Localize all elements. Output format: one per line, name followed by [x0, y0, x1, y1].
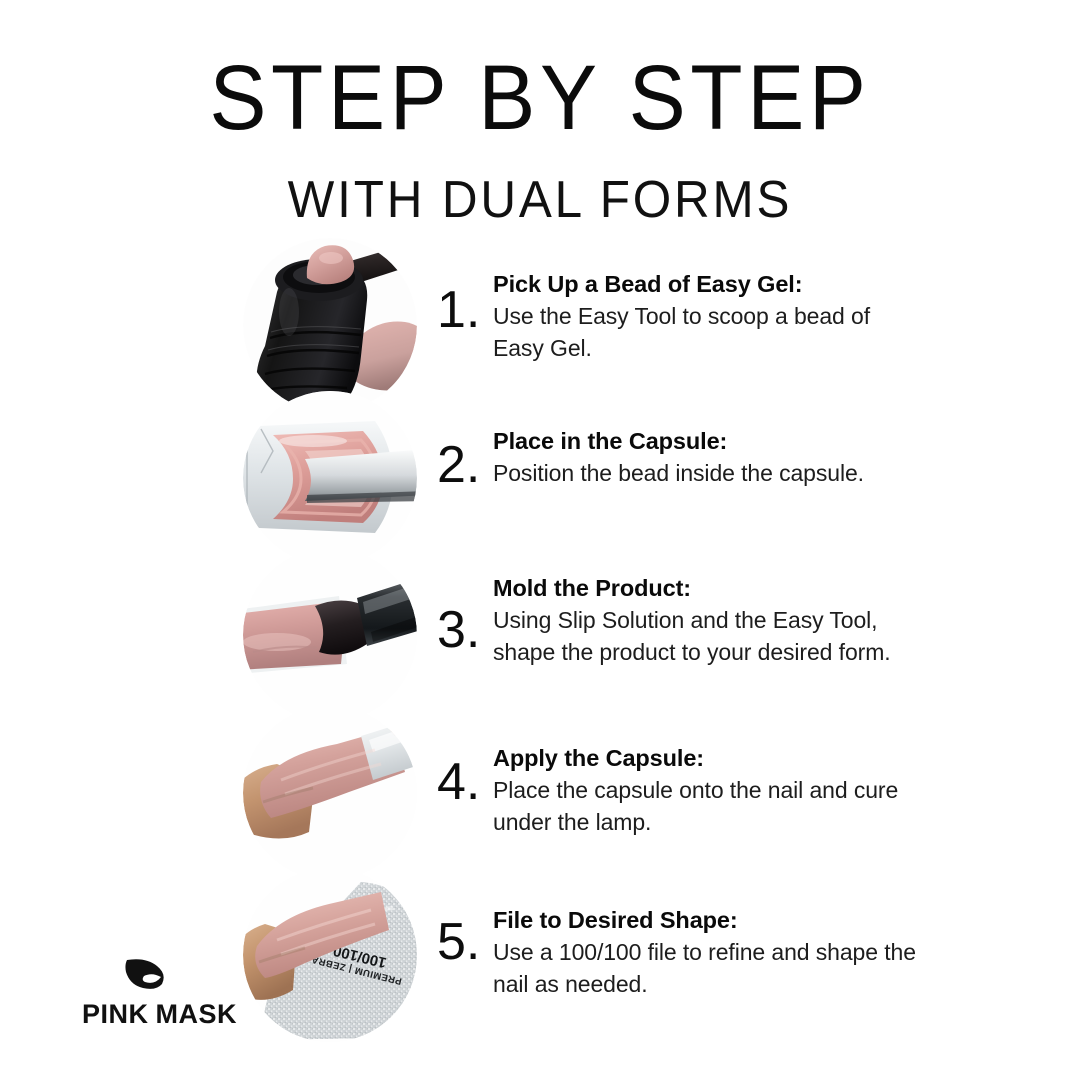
step-2-number: 2.: [437, 439, 489, 491]
step-4-thumbnail: [243, 706, 417, 880]
brand-word-pink: PINK: [82, 999, 149, 1029]
step-4-photo: [243, 706, 417, 880]
brand-wordmark: PINKMASK: [82, 999, 312, 1030]
step-1-body: Use the Easy Tool to scoop a bead of Eas…: [493, 300, 923, 364]
step-3-number: 3.: [437, 604, 489, 656]
page-subtitle: WITH DUAL FORMS: [27, 174, 1053, 226]
brand-logo: PINKMASK: [82, 957, 312, 1030]
step-1-heading: Pick Up a Bead of Easy Gel:: [493, 270, 923, 299]
brand-word-mask: MASK: [156, 999, 238, 1029]
step-2-heading: Place in the Capsule:: [493, 427, 923, 456]
step-4-number: 4.: [437, 756, 489, 808]
step-item-3: 3. Mold the Product: Using Slip Solution…: [0, 542, 1080, 697]
step-2-photo: [243, 391, 417, 565]
step-5-body: Use a 100/100 file to refine and shape t…: [493, 936, 923, 1000]
step-5-text: File to Desired Shape: Use a 100/100 fil…: [493, 906, 923, 1000]
step-4-heading: Apply the Capsule:: [493, 744, 923, 773]
step-5-heading: File to Desired Shape:: [493, 906, 923, 935]
step-3-photo: [243, 548, 417, 722]
step-3-heading: Mold the Product:: [493, 574, 923, 603]
step-item-2: 2. Place in the Capsule: Position the be…: [0, 387, 1080, 542]
step-3-text: Mold the Product: Using Slip Solution an…: [493, 574, 923, 668]
step-item-4: 4. Apply the Capsule: Place the capsule …: [0, 704, 1080, 859]
page-title: STEP BY STEP: [38, 52, 1042, 144]
step-2-text: Place in the Capsule: Position the bead …: [493, 427, 923, 489]
step-4-body: Place the capsule onto the nail and cure…: [493, 774, 923, 838]
step-1-text: Pick Up a Bead of Easy Gel: Use the Easy…: [493, 270, 923, 364]
step-1-photo: [243, 238, 417, 412]
step-4-text: Apply the Capsule: Place the capsule ont…: [493, 744, 923, 838]
step-item-1: 1. Pick Up a Bead of Easy Gel: Use the E…: [0, 232, 1080, 387]
step-1-thumbnail: [243, 238, 417, 412]
leaf-icon: [124, 957, 168, 991]
step-2-body: Position the bead inside the capsule.: [493, 457, 923, 489]
header: STEP BY STEP WITH DUAL FORMS: [0, 0, 1080, 226]
step-3-thumbnail: [243, 548, 417, 722]
step-2-thumbnail: [243, 391, 417, 565]
step-3-body: Using Slip Solution and the Easy Tool, s…: [493, 604, 923, 668]
step-5-number: 5.: [437, 916, 489, 968]
infographic-page: STEP BY STEP WITH DUAL FORMS: [0, 0, 1080, 1080]
step-1-number: 1.: [437, 284, 489, 336]
